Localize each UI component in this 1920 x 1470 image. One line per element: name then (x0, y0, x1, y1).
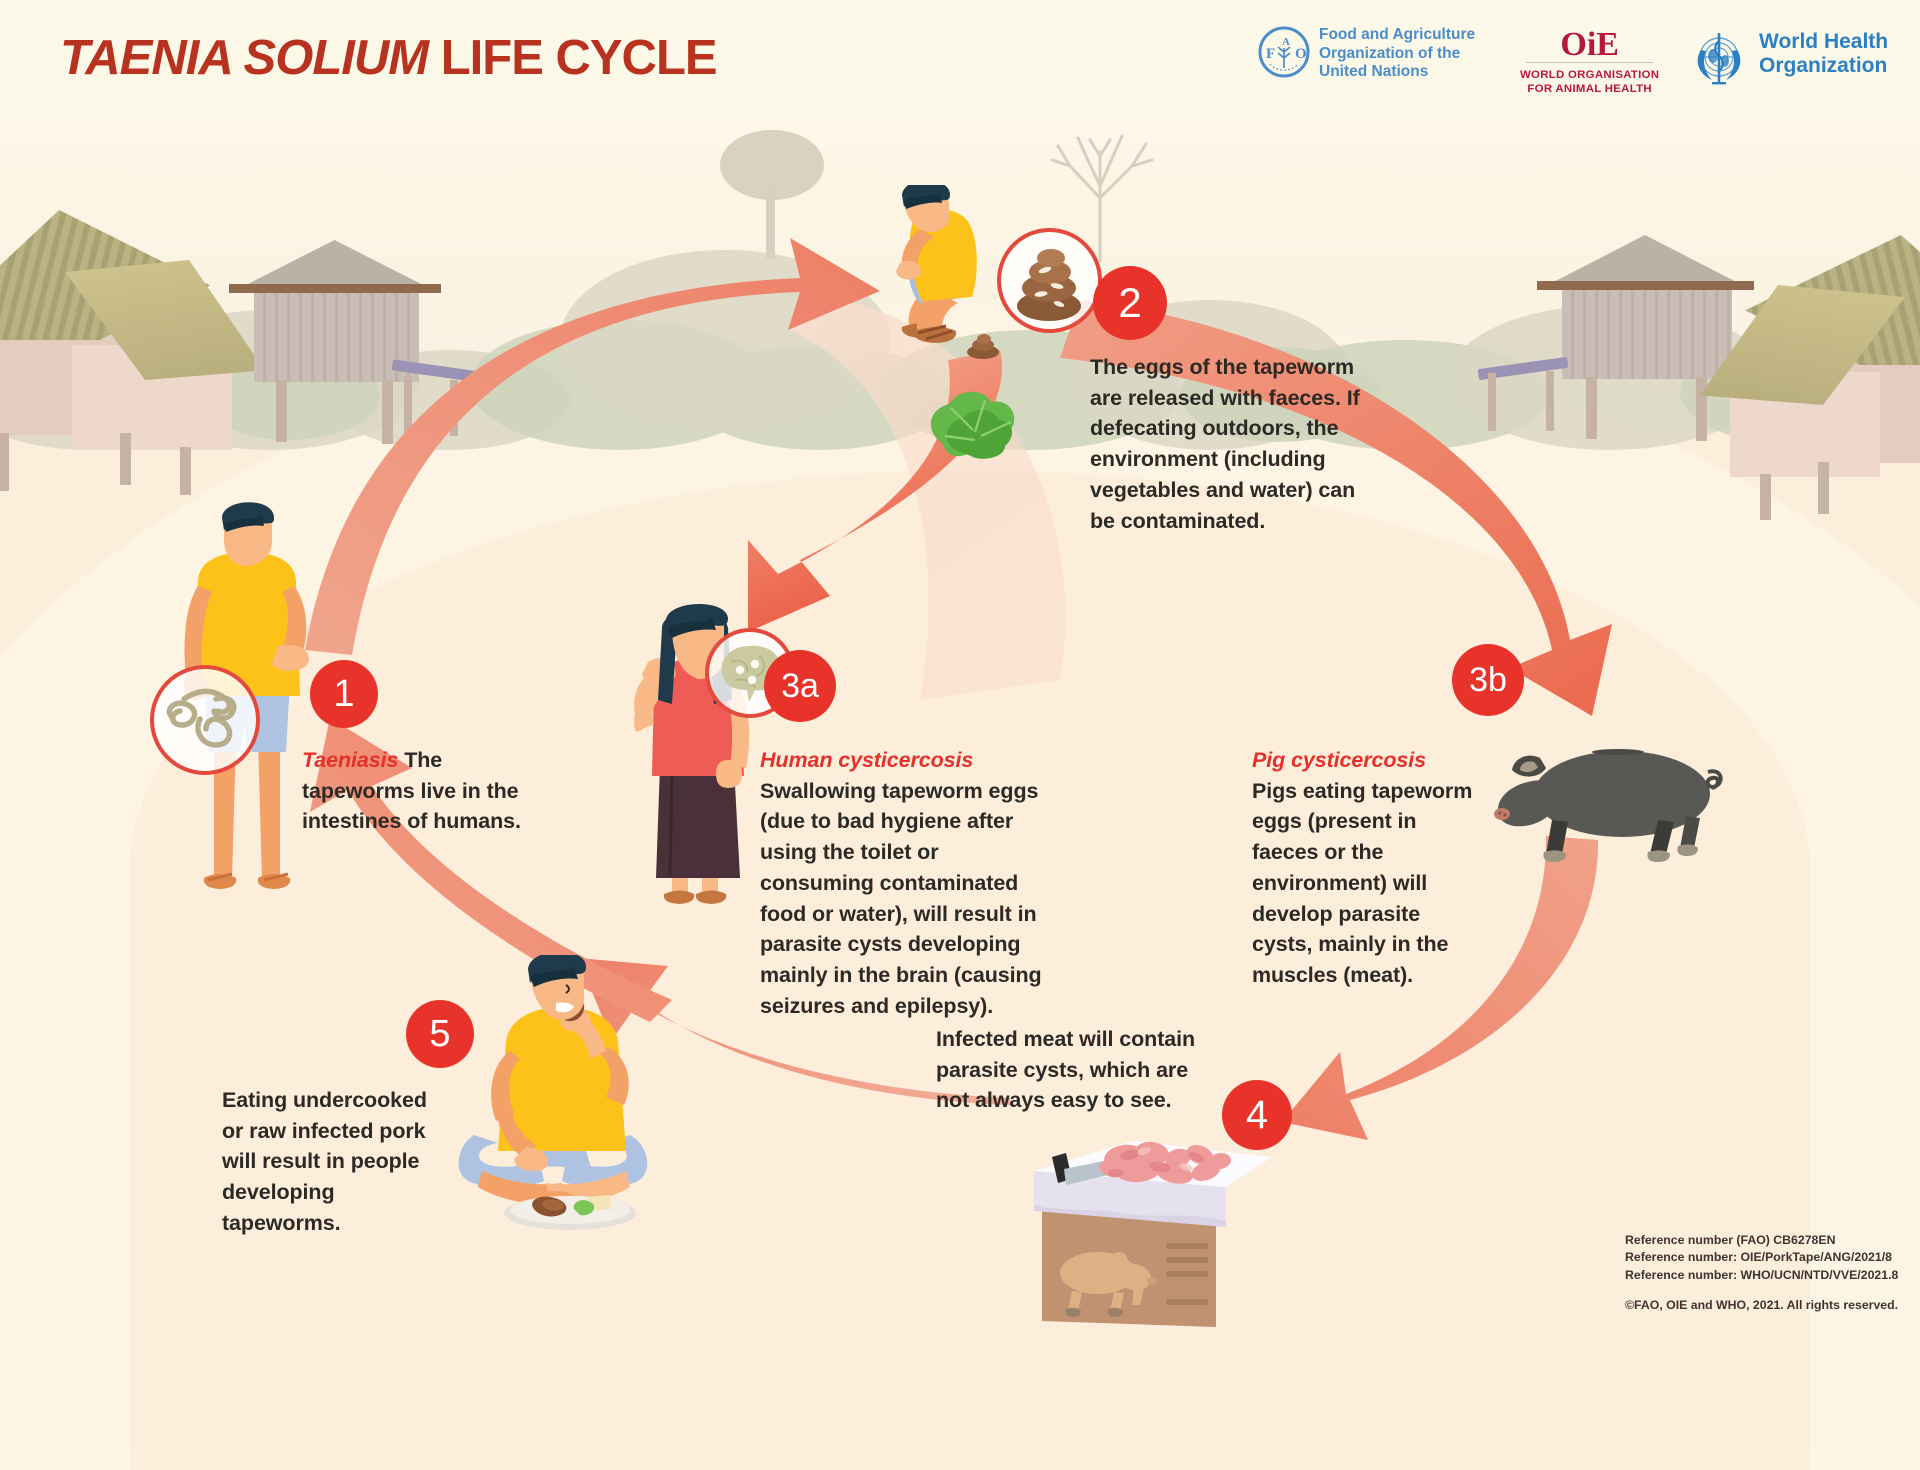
figure-standing-man (140, 500, 340, 920)
badge-step-1: 1 (310, 660, 378, 728)
badge-step-3b: 3b (1452, 644, 1524, 716)
text-step-3b-lead: Pig cysticercosis (1252, 748, 1426, 772)
figure-man-eating (440, 955, 700, 1235)
oie-logo: OiE WORLD ORGANISATION FOR ANIMAL HEALTH (1520, 30, 1659, 96)
badge-step-3a: 3a (764, 650, 836, 722)
text-step-4: Infected meat will contain parasite cyst… (936, 1024, 1222, 1116)
oie-line-1: WORLD ORGANISATION (1520, 68, 1659, 82)
faeces-on-ground (965, 330, 1005, 360)
title-italic: TAENIA SOLIUM (60, 31, 428, 85)
text-step-1: Taeniasis The tapeworms live in the inte… (302, 745, 527, 837)
oie-wordmark: OiE (1520, 30, 1659, 61)
text-step-3b-body: Pigs eating tapeworm eggs (present in fa… (1252, 779, 1472, 987)
fao-emblem-icon: F A O (1258, 26, 1310, 78)
reference-line-2: Reference number: OIE/PorkTape/ANG/2021/… (1625, 1249, 1898, 1266)
text-step-3b: Pig cysticercosis Pigs eating tapeworm e… (1252, 745, 1474, 991)
text-step-1-lead: Taeniasis (302, 748, 404, 772)
page-title: TAENIA SOLIUM LIFE CYCLE (60, 34, 717, 83)
magnifier-faeces-with-eggs (997, 228, 1102, 333)
text-step-3a-lead: Human cysticercosis (760, 748, 973, 772)
badge-step-2: 2 (1093, 266, 1167, 340)
figure-pig (1490, 742, 1740, 872)
svg-text:F: F (1266, 46, 1275, 62)
badge-step-4: 4 (1222, 1080, 1292, 1150)
text-step-3a: Human cysticercosis Swallowing tapeworm … (760, 745, 1056, 1022)
copyright-line: ©FAO, OIE and WHO, 2021. All rights rese… (1625, 1297, 1898, 1314)
who-logo: World Health Organization (1690, 30, 1888, 88)
infographic-canvas: TAENIA SOLIUM LIFE CYCLE F A O Food and … (0, 0, 1920, 1354)
svg-text:O: O (1295, 46, 1307, 62)
text-step-5: Eating undercooked or raw infected pork … (222, 1085, 454, 1239)
who-line-1: World Health (1759, 30, 1888, 54)
magnifier-intestine-tapeworms (150, 665, 260, 775)
fao-line-1: Food and Agriculture (1319, 26, 1475, 45)
contaminated-vegetables (915, 370, 1065, 465)
fao-line-2: Organization of the (1319, 45, 1475, 64)
text-step-3a-body: Swallowing tapeworm eggs (due to bad hyg… (760, 779, 1042, 1018)
title-plain: LIFE CYCLE (441, 31, 717, 85)
fao-logo-text: Food and Agriculture Organization of the… (1319, 26, 1475, 82)
who-line-2: Organization (1759, 54, 1888, 78)
fao-logo: F A O Food and Agriculture Organization … (1258, 26, 1475, 82)
oie-sub-text: WORLD ORGANISATION FOR ANIMAL HEALTH (1520, 68, 1659, 97)
oie-line-2: FOR ANIMAL HEALTH (1520, 82, 1659, 96)
badge-step-5: 5 (406, 1000, 474, 1068)
svg-text:A: A (1282, 36, 1290, 48)
reference-line-1: Reference number (FAO) CB6278EN (1625, 1232, 1898, 1249)
reference-block: Reference number (FAO) CB6278EN Referenc… (1625, 1232, 1898, 1315)
text-step-2-body: The eggs of the tapeworm are released wi… (1090, 355, 1360, 533)
reference-line-3: Reference number: WHO/UCN/NTD/VVE/2021.8 (1625, 1267, 1898, 1284)
text-step-2: The eggs of the tapeworm are released wi… (1090, 352, 1362, 536)
who-emblem-icon (1690, 30, 1748, 88)
who-logo-text: World Health Organization (1759, 30, 1888, 77)
text-step-4-body: Infected meat will contain parasite cyst… (936, 1027, 1195, 1112)
text-step-5-body: Eating undercooked or raw infected pork … (222, 1088, 427, 1235)
fao-line-3: United Nations (1319, 63, 1475, 82)
